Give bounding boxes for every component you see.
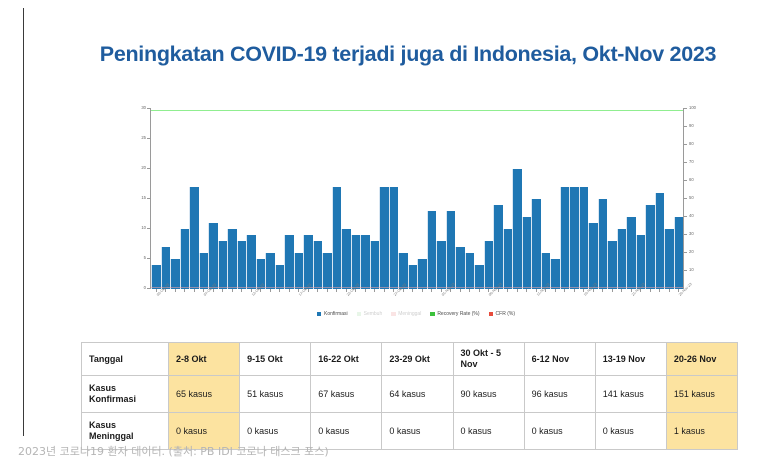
- y-axis-right-tick-label: 40: [689, 214, 709, 218]
- bar: [626, 217, 636, 289]
- bar: [446, 211, 456, 289]
- x-axis-tick-mark: [355, 289, 356, 292]
- y-axis-right-tick-label: 80: [689, 142, 709, 146]
- x-axis-tick-mark: [241, 289, 242, 292]
- table-cell: 96 kasus: [524, 376, 595, 413]
- bar: [294, 253, 304, 289]
- y-axis-right-tick-label: 100: [689, 106, 709, 110]
- x-axis-tick-mark: [336, 289, 337, 292]
- bar: [503, 229, 513, 289]
- bar: [237, 241, 247, 289]
- bar: [455, 247, 465, 289]
- chart-legend: KonfirmasiSembuhMeninggalRecovery Rate (…: [124, 311, 708, 317]
- x-axis-tick-mark: [412, 289, 413, 292]
- bar: [208, 223, 218, 289]
- bar: [645, 205, 655, 289]
- x-axis-tick-mark: [289, 289, 290, 292]
- x-axis-tick-mark: [194, 289, 195, 292]
- y-axis-left-tick-mark: [147, 138, 150, 139]
- bar: [379, 187, 389, 289]
- x-axis-tick-mark: [574, 289, 575, 292]
- bar: [436, 241, 446, 289]
- table-row-header: Tanggal: [82, 343, 169, 376]
- x-axis-tick-mark: [431, 289, 432, 292]
- bar: [227, 229, 237, 289]
- x-axis-tick-mark: [232, 289, 233, 292]
- y-axis-right-tick-label: 90: [689, 124, 709, 128]
- table-cell: 1 kasus: [666, 413, 737, 450]
- y-axis-left-tick-mark: [147, 168, 150, 169]
- bar: [161, 247, 171, 289]
- x-axis-tick-mark: [175, 289, 176, 292]
- bar: [151, 265, 161, 289]
- cfr-line: [151, 287, 683, 288]
- y-axis-left-tick-mark: [147, 228, 150, 229]
- table-cell: 2-8 Okt: [169, 343, 240, 376]
- y-axis-right-tick-mark: [684, 270, 687, 271]
- recovery-rate-line: [151, 110, 683, 111]
- bar-series-konfirmasi: [151, 108, 683, 289]
- x-axis-tick-mark: [270, 289, 271, 292]
- table-row-header: Kasus Konfirmasi: [82, 376, 169, 413]
- bar: [417, 259, 427, 289]
- bar: [246, 235, 256, 289]
- x-axis-tick-mark: [460, 289, 461, 292]
- x-axis-tick-mark: [365, 289, 366, 292]
- bar: [170, 259, 180, 289]
- x-axis-tick-mark: [422, 289, 423, 292]
- x-axis-tick-mark: [669, 289, 670, 292]
- bar: [199, 253, 209, 289]
- slide-canvas: Peningkatan COVID-19 terjadi juga di Ind…: [24, 8, 768, 436]
- table-cell: 151 kasus: [666, 376, 737, 413]
- bar: [389, 187, 399, 289]
- bar: [617, 229, 627, 289]
- x-axis-tick-mark: [450, 289, 451, 292]
- table-row: Kasus Konfirmasi65 kasus51 kasus67 kasus…: [82, 376, 738, 413]
- bar: [493, 205, 503, 289]
- y-axis-right-tick-label: 10: [689, 268, 709, 272]
- legend-swatch-icon: [391, 312, 396, 317]
- y-axis-right-tick-mark: [684, 162, 687, 163]
- y-axis-right-tick-label: 30: [689, 232, 709, 236]
- x-axis-tick-mark: [260, 289, 261, 292]
- y-axis-right-tick-label: 50: [689, 196, 709, 200]
- y-axis-left-tick-label: 15: [126, 196, 146, 200]
- legend-swatch-icon: [430, 312, 435, 317]
- x-axis-tick-mark: [165, 289, 166, 292]
- y-axis-left-tick-mark: [147, 198, 150, 199]
- y-axis-right-tick-mark: [684, 252, 687, 253]
- bar: [569, 187, 579, 289]
- bar: [588, 223, 598, 289]
- x-axis-tick-mark: [602, 289, 603, 292]
- bar: [664, 229, 674, 289]
- x-axis-tick-mark: [507, 289, 508, 292]
- bar: [607, 241, 617, 289]
- table-cell: 51 kasus: [240, 376, 311, 413]
- table-cell: 9-15 Okt: [240, 343, 311, 376]
- x-axis-tick-mark: [593, 289, 594, 292]
- table-cell: 64 kasus: [382, 376, 453, 413]
- bar: [655, 193, 665, 289]
- y-axis-right-tick-label: 60: [689, 178, 709, 182]
- y-axis-right-tick-mark: [684, 126, 687, 127]
- table-cell: 67 kasus: [311, 376, 382, 413]
- table-cell: 0 kasus: [524, 413, 595, 450]
- y-axis-right-tick-mark: [684, 108, 687, 109]
- y-axis-left-tick-label: 0: [126, 286, 146, 290]
- bar: [408, 265, 418, 289]
- x-axis-tick-mark: [555, 289, 556, 292]
- bar: [550, 259, 560, 289]
- x-axis-tick-mark: [469, 289, 470, 292]
- table-cell: 141 kasus: [595, 376, 666, 413]
- bar: [636, 235, 646, 289]
- bar: [360, 235, 370, 289]
- bar: [189, 187, 199, 289]
- x-axis-tick-mark: [479, 289, 480, 292]
- bar: [332, 187, 342, 289]
- figure-caption: 2023년 코로나19 환자 데이터. (출처: PB IDI 코로나 태스크 …: [18, 443, 329, 459]
- x-axis-tick-mark: [659, 289, 660, 292]
- legend-item[interactable]: Meninggal: [391, 311, 421, 317]
- y-axis-left-tick-label: 5: [126, 256, 146, 260]
- legend-label: Meninggal: [398, 311, 421, 317]
- legend-label: CFR (%): [496, 311, 515, 317]
- y-axis-left-tick-label: 30: [126, 106, 146, 110]
- covid-bar-chart: 051015202530 102030405060708090100 02-Ok…: [124, 104, 708, 319]
- y-axis-right-tick-mark: [684, 180, 687, 181]
- table-cell: 16-22 Okt: [311, 343, 382, 376]
- bar: [512, 169, 522, 289]
- y-axis-right-tick-mark: [684, 144, 687, 145]
- bar: [322, 253, 332, 289]
- x-axis-tick-mark: [279, 289, 280, 292]
- y-axis-left-tick-mark: [147, 258, 150, 259]
- x-axis-tick-mark: [650, 289, 651, 292]
- table-cell: 6-12 Nov: [524, 343, 595, 376]
- bar: [303, 235, 313, 289]
- bar: [579, 187, 589, 289]
- bar: [465, 253, 475, 289]
- bar: [313, 241, 323, 289]
- bar: [674, 217, 684, 289]
- bar: [341, 229, 351, 289]
- table-cell: 0 kasus: [595, 413, 666, 450]
- x-axis-tick-mark: [545, 289, 546, 292]
- legend-item[interactable]: Sembuh: [357, 311, 383, 317]
- y-axis-right-tick-label: 70: [689, 160, 709, 164]
- bar: [265, 253, 275, 289]
- legend-item[interactable]: Konfirmasi: [317, 311, 348, 317]
- bar: [218, 241, 228, 289]
- bar: [180, 229, 190, 289]
- table-cell: 90 kasus: [453, 376, 524, 413]
- y-axis-right-tick-mark: [684, 216, 687, 217]
- x-axis-tick-mark: [621, 289, 622, 292]
- bar: [275, 265, 285, 289]
- x-axis-tick-mark: [564, 289, 565, 292]
- covid-summary-table: Tanggal2-8 Okt9-15 Okt16-22 Okt23-29 Okt…: [81, 342, 738, 450]
- y-axis-left-tick-label: 20: [126, 166, 146, 170]
- x-axis-tick-mark: [374, 289, 375, 292]
- table-cell: 13-19 Nov: [595, 343, 666, 376]
- table-cell: 23-29 Okt: [382, 343, 453, 376]
- x-axis-tick-mark: [612, 289, 613, 292]
- x-axis-tick-mark: [308, 289, 309, 292]
- page-title: Peningkatan COVID-19 terjadi juga di Ind…: [48, 42, 768, 67]
- legend-item[interactable]: CFR (%): [489, 311, 515, 317]
- y-axis-right-tick-label: 20: [689, 250, 709, 254]
- bar: [474, 265, 484, 289]
- bar: [484, 241, 494, 289]
- y-axis-left-tick-mark: [147, 108, 150, 109]
- y-axis-left-tick-label: 25: [126, 136, 146, 140]
- bar: [531, 199, 541, 289]
- legend-label: Recovery Rate (%): [437, 311, 479, 317]
- x-axis-tick-mark: [222, 289, 223, 292]
- bar: [560, 187, 570, 289]
- table-header-row: Tanggal2-8 Okt9-15 Okt16-22 Okt23-29 Okt…: [82, 343, 738, 376]
- bar: [427, 211, 437, 289]
- x-axis-tick-mark: [526, 289, 527, 292]
- x-axis-tick-mark: [317, 289, 318, 292]
- x-axis-tick-mark: [640, 289, 641, 292]
- legend-item[interactable]: Recovery Rate (%): [430, 311, 479, 317]
- bar: [522, 217, 532, 289]
- legend-swatch-icon: [489, 312, 494, 317]
- page-root: Peningkatan COVID-19 terjadi juga di Ind…: [0, 0, 768, 472]
- x-axis-tick-mark: [213, 289, 214, 292]
- bar: [598, 199, 608, 289]
- x-axis-tick-mark: [184, 289, 185, 292]
- legend-swatch-icon: [357, 312, 362, 317]
- table-cell: 0 kasus: [382, 413, 453, 450]
- bar: [351, 235, 361, 289]
- table-cell: 0 kasus: [453, 413, 524, 450]
- bar: [370, 241, 380, 289]
- x-axis-tick-mark: [498, 289, 499, 292]
- x-axis-tick-mark: [403, 289, 404, 292]
- table-cell: 20-26 Nov: [666, 343, 737, 376]
- table-cell: 65 kasus: [169, 376, 240, 413]
- y-axis-right-tick-mark: [684, 234, 687, 235]
- table-cell: 30 Okt - 5 Nov: [453, 343, 524, 376]
- y-axis-left-tick-mark: [147, 288, 150, 289]
- x-axis-tick-mark: [384, 289, 385, 292]
- legend-label: Sembuh: [364, 311, 383, 317]
- x-axis-tick-mark: [517, 289, 518, 292]
- bar: [284, 235, 294, 289]
- legend-swatch-icon: [317, 312, 322, 317]
- y-axis-left-tick-label: 10: [126, 226, 146, 230]
- x-axis-tick-mark: [327, 289, 328, 292]
- legend-label: Konfirmasi: [324, 311, 348, 317]
- y-axis-right-tick-mark: [684, 198, 687, 199]
